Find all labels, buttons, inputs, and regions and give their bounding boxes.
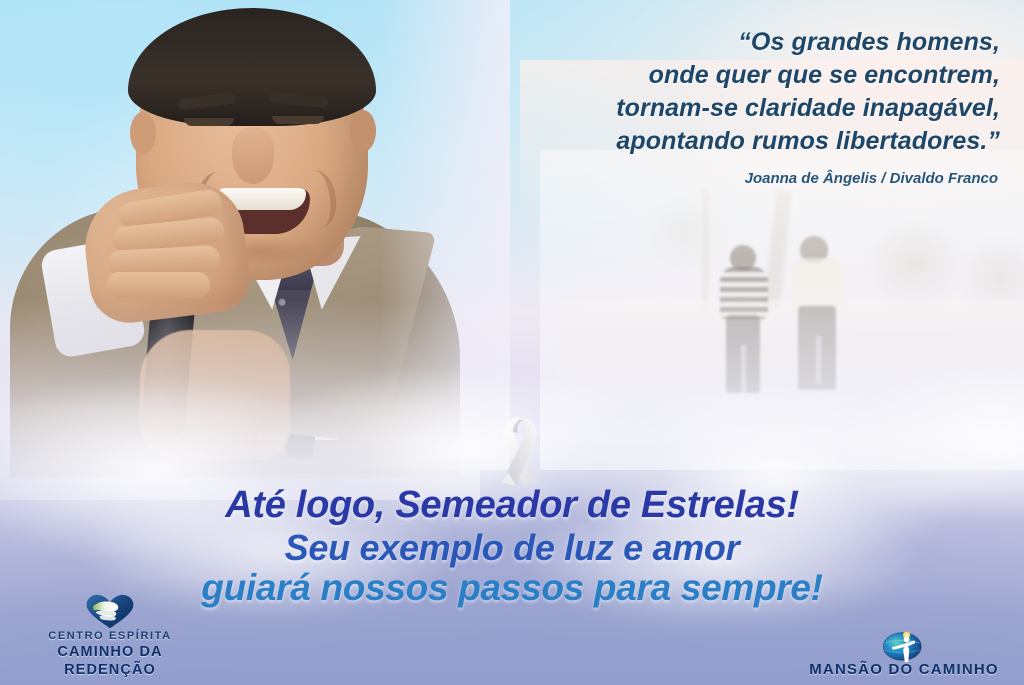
ear-right <box>350 110 376 152</box>
logo-left-line-2: CAMINHO DA REDENÇÃO <box>10 644 210 679</box>
white-ribbon-icon <box>480 408 560 490</box>
logo-right-line-1: MANSÃO DO CAMINHO <box>794 661 1014 679</box>
quote-attribution: Joanna de Ângelis / Divaldo Franco <box>398 170 998 187</box>
globe-figure-flame-icon <box>794 625 1014 661</box>
logo-centro-espirita: CENTRO ESPÍRITA CAMINHO DA REDENÇÃO <box>10 594 210 679</box>
quote-text: “Os grandes homens, onde quer que se enc… <box>400 26 1000 158</box>
logo-left-line-1: CENTRO ESPÍRITA <box>10 630 210 644</box>
portrait-bottom-fade <box>0 300 480 500</box>
headline-line-1: Até logo, Semeador de Estrelas! <box>0 486 1024 526</box>
quote-line-3: tornam-se claridade inapagável, <box>400 92 1000 125</box>
quote-line-2: onde quer que se encontrem, <box>400 59 1000 92</box>
nose <box>232 128 274 184</box>
logo-mansao-do-caminho: MANSÃO DO CAMINHO <box>794 625 1014 679</box>
heart-hands-icon <box>10 594 210 630</box>
eye-right-closed <box>272 116 324 124</box>
quote-line-1: “Os grandes homens, <box>400 26 1000 59</box>
finger <box>106 272 210 298</box>
quote-line-4: apontando rumos libertadores.” <box>400 125 1000 158</box>
memorial-poster: “Os grandes homens, onde quer que se enc… <box>0 0 1024 685</box>
memorial-headline: Até logo, Semeador de Estrelas! Seu exem… <box>0 486 1024 607</box>
headline-line-2: Seu exemplo de luz e amor <box>0 529 1024 566</box>
ear-left <box>130 112 156 154</box>
eye-left-closed <box>184 118 234 126</box>
